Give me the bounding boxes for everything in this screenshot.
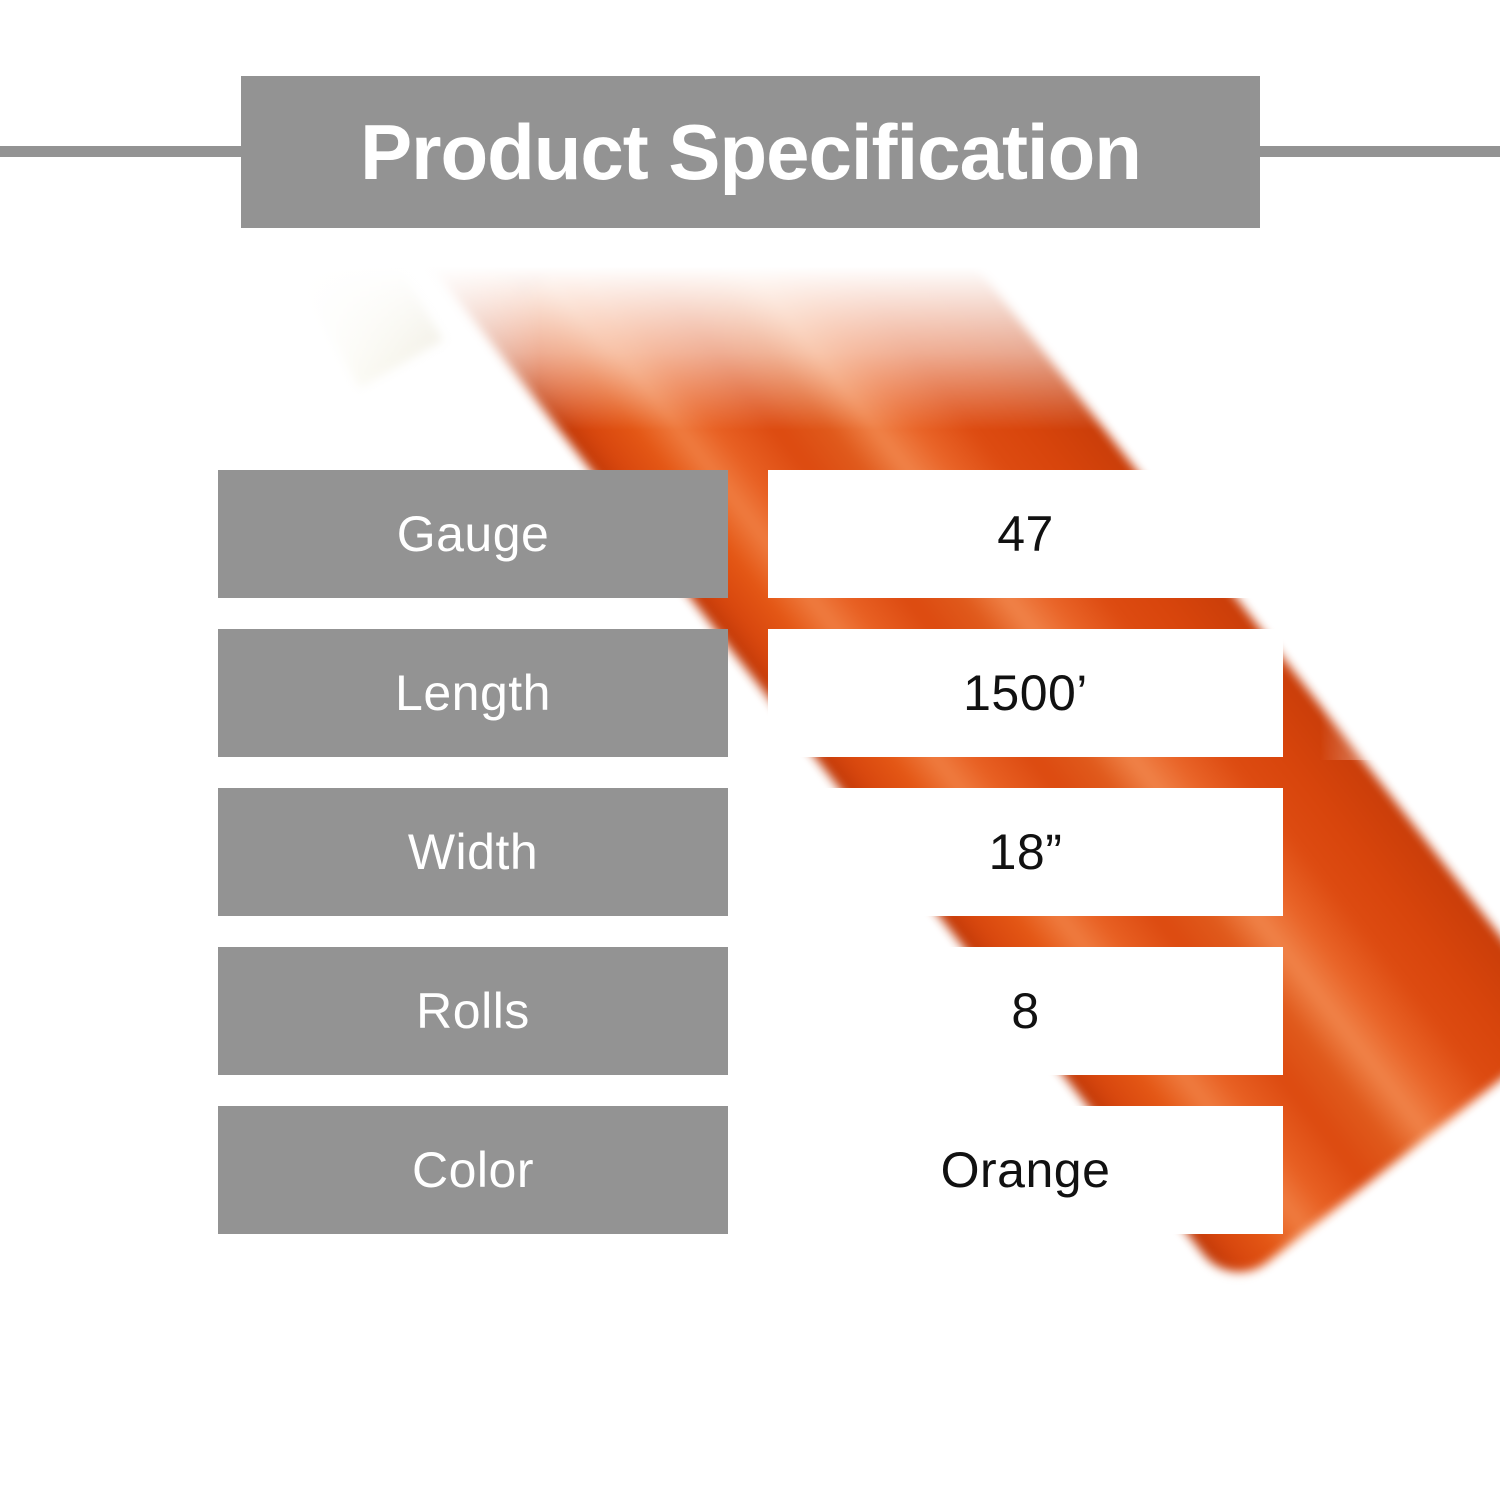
table-row: Color Orange <box>218 1106 1283 1234</box>
row-gap <box>728 788 768 916</box>
spec-label-color: Color <box>218 1106 728 1234</box>
table-row: Width 18” <box>218 788 1283 916</box>
row-gap <box>728 470 768 598</box>
table-row: Length 1500’ <box>218 629 1283 757</box>
title-banner: Product Specification <box>241 76 1260 228</box>
specification-table: Gauge 47 Length 1500’ Width 18” Rolls 8 … <box>218 470 1283 1234</box>
row-gap <box>728 1106 768 1234</box>
row-gap <box>728 947 768 1075</box>
table-row: Rolls 8 <box>218 947 1283 1075</box>
spec-label-width: Width <box>218 788 728 916</box>
spec-value-rolls: 8 <box>768 947 1283 1075</box>
table-row: Gauge 47 <box>218 470 1283 598</box>
spec-label-gauge: Gauge <box>218 470 728 598</box>
spec-value-color: Orange <box>768 1106 1283 1234</box>
spec-value-length: 1500’ <box>768 629 1283 757</box>
row-gap <box>728 629 768 757</box>
spec-label-length: Length <box>218 629 728 757</box>
photo-fade-right <box>1320 0 1500 760</box>
spec-label-rolls: Rolls <box>218 947 728 1075</box>
page-title: Product Specification <box>360 113 1141 191</box>
product-specification-card: Product Specification Gauge 47 Length 15… <box>0 0 1500 1500</box>
spec-value-gauge: 47 <box>768 470 1283 598</box>
spec-value-width: 18” <box>768 788 1283 916</box>
photo-fade-bottom-left <box>0 1200 760 1500</box>
